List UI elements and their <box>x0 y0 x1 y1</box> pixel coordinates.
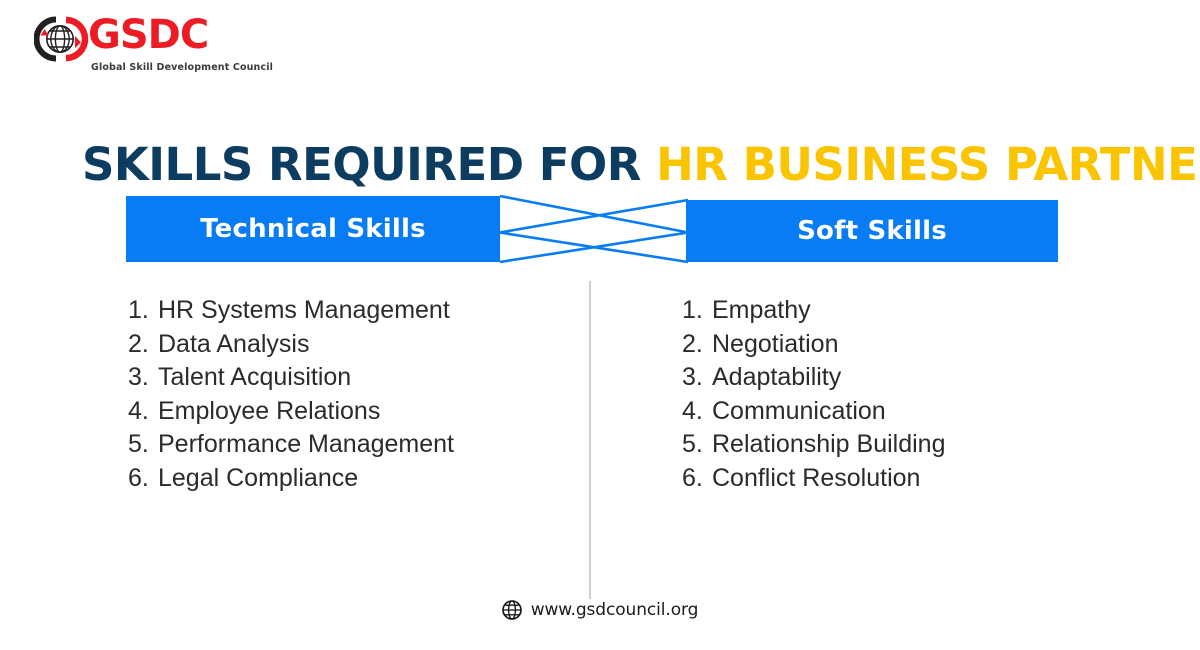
list-item-label: Relationship Building <box>712 430 945 458</box>
list-item-number: 1. <box>128 294 158 328</box>
list-item: 5.Performance Management <box>128 428 454 462</box>
list-item: 2.Data Analysis <box>128 328 454 362</box>
list-item-label: Employee Relations <box>158 397 380 425</box>
logo-wordmark: GSDC <box>88 12 208 58</box>
list-item-number: 3. <box>128 361 158 395</box>
list-item-number: 4. <box>128 395 158 429</box>
list-item: 1.Empathy <box>682 294 945 328</box>
column-header-technical: Technical Skills <box>126 196 500 262</box>
page-title: SKILLS REQUIRED FOR HR BUSINESS PARTNER <box>82 138 1200 191</box>
list-item: 3.Adaptability <box>682 361 945 395</box>
column-divider <box>589 281 591 599</box>
list-item-number: 4. <box>682 395 712 429</box>
list-item: 4.Communication <box>682 395 945 429</box>
list-item-number: 6. <box>128 462 158 496</box>
list-item-label: Conflict Resolution <box>712 464 920 492</box>
list-item: 4.Employee Relations <box>128 395 454 429</box>
list-item-label: Communication <box>712 397 886 425</box>
column-header-soft-label: Soft Skills <box>797 216 947 246</box>
footer-url[interactable]: www.gsdcouncil.org <box>531 600 699 620</box>
logo-tagline: Global Skill Development Council <box>91 62 273 73</box>
list-item-label: Negotiation <box>712 330 838 358</box>
soft-skills-list: 1.Empathy 2.Negotiation 3.Adaptability 4… <box>682 294 945 495</box>
column-header-technical-label: Technical Skills <box>200 214 426 244</box>
technical-skills-list: 1.HR Systems Management 2.Data Analysis … <box>128 294 454 495</box>
page-title-accent: HR BUSINESS PARTNER <box>656 138 1200 191</box>
list-item-label: Data Analysis <box>158 330 309 358</box>
list-item-number: 2. <box>682 328 712 362</box>
list-item-label: HR Systems Management <box>158 296 450 324</box>
list-item-number: 6. <box>682 462 712 496</box>
column-headers-band: Technical Skills Soft Skills <box>0 190 1200 275</box>
list-item: 3.Talent Acquisition <box>128 361 454 395</box>
list-item-label: Empathy <box>712 296 811 324</box>
list-item-label: Legal Compliance <box>158 464 358 492</box>
globe-arrow-icon <box>34 14 90 64</box>
list-item-number: 5. <box>128 428 158 462</box>
footer: www.gsdcouncil.org <box>0 600 1200 620</box>
list-item: 1.HR Systems Management <box>128 294 454 328</box>
list-item-number: 2. <box>128 328 158 362</box>
list-item: 6.Conflict Resolution <box>682 462 945 496</box>
list-item-number: 3. <box>682 361 712 395</box>
list-item-number: 5. <box>682 428 712 462</box>
bowtie-connector-icon <box>498 190 690 275</box>
globe-icon <box>502 600 522 620</box>
list-item: 2.Negotiation <box>682 328 945 362</box>
list-item: 5.Relationship Building <box>682 428 945 462</box>
list-item: 6.Legal Compliance <box>128 462 454 496</box>
brand-logo: GSDC Global Skill Development Council <box>34 12 234 74</box>
list-item-label: Adaptability <box>712 363 841 391</box>
column-header-soft: Soft Skills <box>686 200 1058 262</box>
page-title-primary: SKILLS REQUIRED FOR <box>82 138 656 191</box>
list-item-label: Performance Management <box>158 430 454 458</box>
list-item-label: Talent Acquisition <box>158 363 351 391</box>
list-item-number: 1. <box>682 294 712 328</box>
